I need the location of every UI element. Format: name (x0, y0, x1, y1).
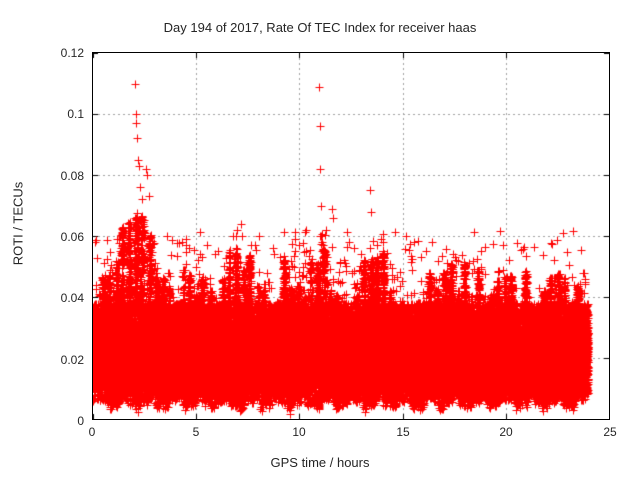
y-tick-label-0.1: 0.1 (6, 107, 84, 121)
chart-title: Day 194 of 2017, Rate Of TEC Index for r… (0, 20, 640, 35)
chart-container: Day 194 of 2017, Rate Of TEC Index for r… (0, 0, 640, 480)
scatter-plot-canvas (93, 53, 609, 419)
x-tick-label-10: 10 (269, 425, 329, 439)
x-tick-label-5: 5 (166, 425, 226, 439)
y-axis-title: ROTI / TECUs (11, 144, 26, 304)
x-tick-label-20: 20 (476, 425, 536, 439)
x-tick-label-15: 15 (373, 425, 433, 439)
x-axis-title: GPS time / hours (0, 455, 640, 470)
plot-area (92, 52, 610, 420)
x-tick-label-25: 25 (580, 425, 640, 439)
y-tick-label-0.02: 0.02 (6, 353, 84, 367)
y-tick-label-0.12: 0.12 (6, 46, 84, 60)
x-tick-label-0: 0 (62, 425, 122, 439)
